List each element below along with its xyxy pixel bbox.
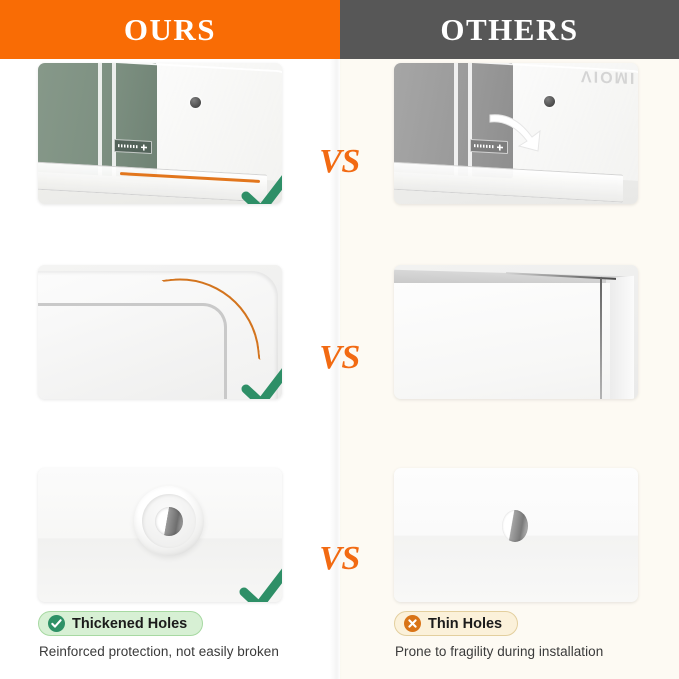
sharp-corner-photo bbox=[394, 265, 638, 399]
comparison-row-edges: Smooth Edges No scratching of your hands bbox=[0, 263, 679, 466]
cross-circle-icon bbox=[404, 615, 421, 632]
badge-label: Thickened Holes bbox=[72, 616, 187, 632]
screw-knob-icon bbox=[544, 96, 555, 107]
badge-thin-holes: Thin Holes bbox=[394, 611, 518, 636]
vs-separator-3: VS bbox=[0, 542, 679, 576]
shelf-without-lip-edge-photo: IMOIV bbox=[394, 63, 638, 204]
header-bar: OURS OTHERS bbox=[0, 0, 679, 59]
vs-separator-2: VS bbox=[0, 341, 679, 375]
comparison-row-lip-edge: lip Edge Design Prevent items from falli… bbox=[0, 59, 679, 263]
ghost-brand-text: IMOIV bbox=[579, 66, 634, 86]
shelf-with-lip-edge-photo bbox=[38, 63, 282, 204]
caption-thickened-holes: Reinforced protection, not easily broken bbox=[39, 644, 279, 659]
header-others: OTHERS bbox=[340, 0, 679, 59]
thin-mounting-hole-photo bbox=[394, 468, 638, 602]
header-ours: OURS bbox=[0, 0, 340, 59]
comparison-infographic: OURS OTHERS bbox=[0, 0, 679, 679]
caption-thin-holes: Prone to fragility during installation bbox=[395, 644, 603, 659]
check-circle-icon bbox=[48, 615, 65, 632]
header-ours-title: OURS bbox=[124, 14, 216, 45]
badge-label: Thin Holes bbox=[428, 616, 502, 632]
rounded-corner-photo bbox=[38, 265, 282, 399]
mounting-hole bbox=[502, 510, 528, 542]
badge-thickened-holes: Thickened Holes bbox=[38, 611, 203, 636]
mounting-hole bbox=[155, 507, 183, 536]
comparison-row-holes: Thickened Holes Reinforced protection, n… bbox=[0, 466, 679, 679]
header-others-title: OTHERS bbox=[440, 14, 578, 45]
screw-knob-icon bbox=[190, 97, 201, 108]
thick-mounting-hole-photo bbox=[38, 468, 282, 602]
sharp-edge-line-right bbox=[600, 277, 602, 399]
vs-separator-1: VS bbox=[0, 145, 679, 179]
